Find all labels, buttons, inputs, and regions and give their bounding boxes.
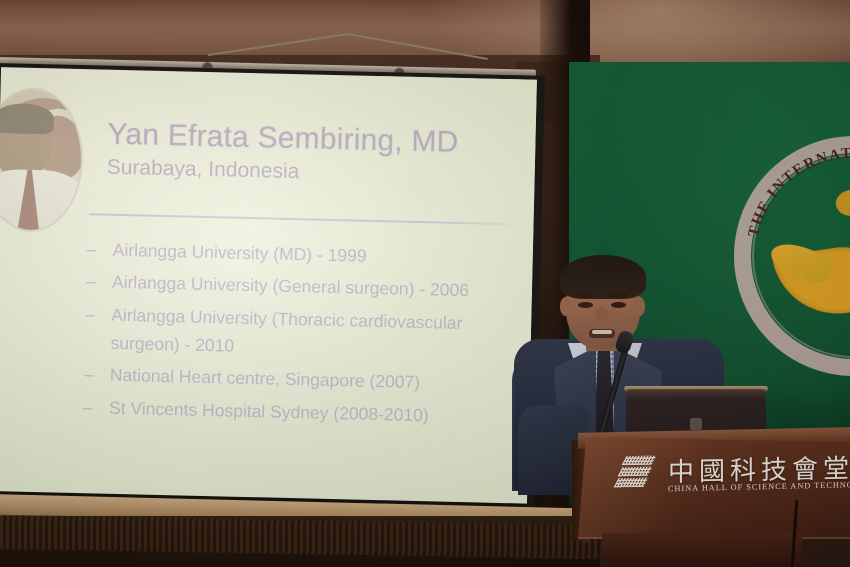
speaker-nose: [596, 307, 608, 324]
logo-bar-top: [622, 456, 657, 466]
screen-hanger-wire: [200, 27, 491, 63]
slide-vignette: [0, 67, 537, 505]
presentation-photo-scene: THE INTERNATIONAL SOCIETY OF REG Yan Efr…: [0, 0, 850, 567]
china-hall-logo-icon: [616, 456, 656, 489]
speaker-eyebrow-right: [608, 293, 628, 298]
speaker-mouth: [589, 329, 615, 338]
logo-bar-middle: [618, 467, 653, 477]
speaker-ear-left: [560, 297, 571, 316]
laptop-logo-icon: [690, 418, 702, 430]
speaker-eye-left: [578, 302, 593, 308]
speaker-hair: [560, 255, 646, 299]
speaker-eye-right: [611, 302, 626, 308]
logo-bar-bottom: [614, 478, 649, 488]
projection-screen: Yan Efrata Sembiring, MD Surabaya, Indon…: [0, 63, 545, 516]
podium-base: [602, 533, 802, 567]
presentation-slide: Yan Efrata Sembiring, MD Surabaya, Indon…: [0, 67, 537, 505]
speaker-eyebrow-left: [575, 293, 595, 298]
speaker-ear-right: [634, 297, 645, 316]
